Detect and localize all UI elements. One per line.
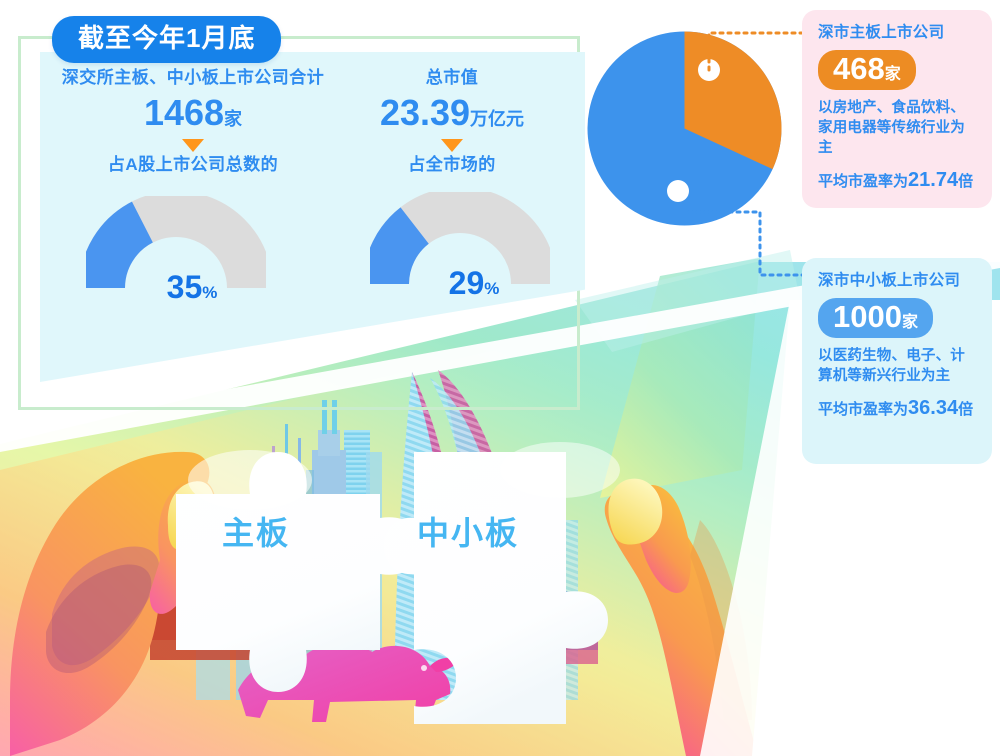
card-count-unit: 家 bbox=[885, 66, 901, 83]
date-badge: 截至今年1月底 bbox=[52, 16, 281, 63]
card-description: 以医药生物、电子、计算机等新兴行业为主 bbox=[818, 346, 976, 386]
pe-suffix: 倍 bbox=[958, 173, 973, 190]
card-main-board: 深市主板上市公司 468家 以房地产、食品饮料、家用电器等传统行业为主 平均市盈… bbox=[802, 10, 992, 208]
connector-main-board bbox=[709, 33, 806, 70]
pe-prefix: 平均市盈率为 bbox=[818, 401, 908, 418]
card-count-pill: 1000家 bbox=[818, 298, 933, 339]
puzzle-label-main-board: 主板 bbox=[222, 517, 290, 549]
card-count: 468 bbox=[833, 51, 885, 86]
pe-value: 21.74 bbox=[908, 169, 958, 191]
pe-value: 36.34 bbox=[908, 397, 958, 419]
connector-sme-board bbox=[689, 212, 812, 275]
card-pe-ratio: 平均市盈率为21.74倍 bbox=[818, 168, 976, 192]
card-count: 1000 bbox=[833, 299, 902, 334]
card-count-unit: 家 bbox=[902, 314, 918, 331]
card-description: 以房地产、食品饮料、家用电器等传统行业为主 bbox=[818, 98, 976, 158]
infographic-canvas: 截至今年1月底 深交所主板、中小板上市公司合计 1468家 占A股上市公司总数的… bbox=[0, 0, 1000, 756]
card-pe-ratio: 平均市盈率为36.34倍 bbox=[818, 396, 976, 420]
puzzle-label-sme-board: 中小板 bbox=[417, 517, 519, 549]
card-title: 深市中小板上市公司 bbox=[818, 272, 976, 291]
pe-suffix: 倍 bbox=[958, 401, 973, 418]
card-sme-board: 深市中小板上市公司 1000家 以医药生物、电子、计算机等新兴行业为主 平均市盈… bbox=[802, 258, 992, 464]
pe-prefix: 平均市盈率为 bbox=[818, 173, 908, 190]
card-count-pill: 468家 bbox=[818, 50, 916, 91]
card-title: 深市主板上市公司 bbox=[818, 24, 976, 43]
